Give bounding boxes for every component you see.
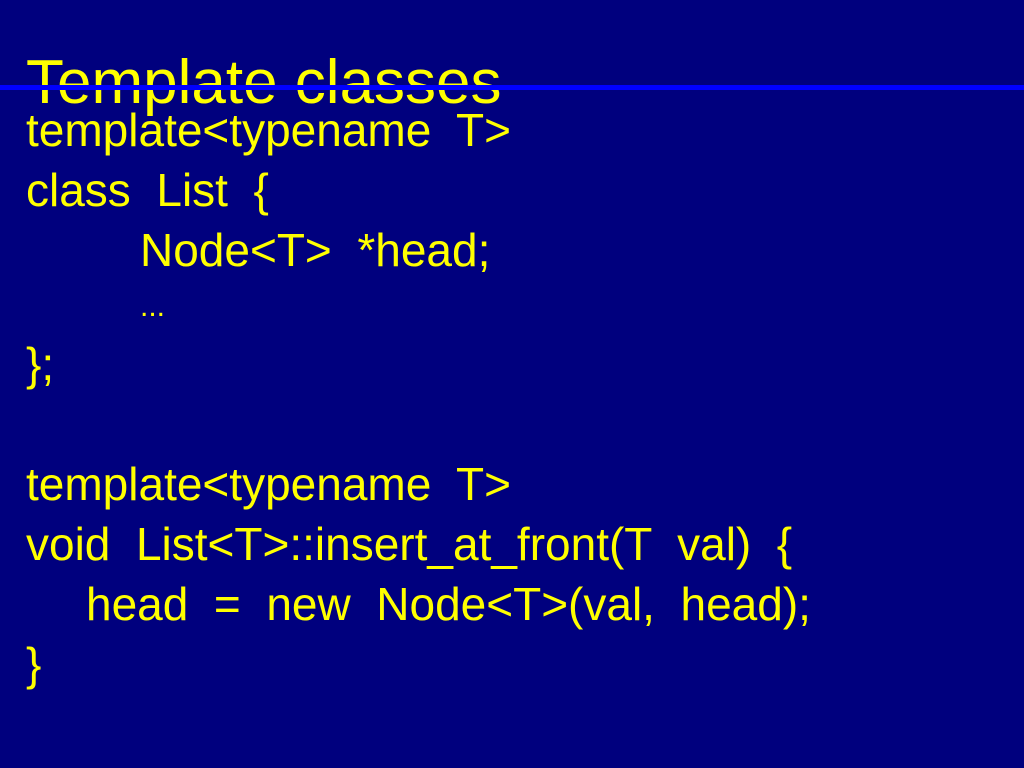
code-line: void List<T>::insert_at_front(T val) { [26,514,1016,574]
code-line: head = new Node<T>(val, head); [26,574,1016,634]
code-line: class List { [26,160,1016,220]
code-line: }; [26,334,1016,394]
code-line: Node<T> *head; [26,220,1016,280]
code-block: template<typename T> class List { Node<T… [26,100,1016,694]
title-divider [0,85,1024,90]
code-line-ellipsis: ... [26,280,1016,334]
code-line: } [26,634,1016,694]
slide: Template classes template<typename T> cl… [0,0,1024,768]
code-line: template<typename T> [26,454,1016,514]
code-line: template<typename T> [26,100,1016,160]
code-line-blank [26,394,1016,454]
